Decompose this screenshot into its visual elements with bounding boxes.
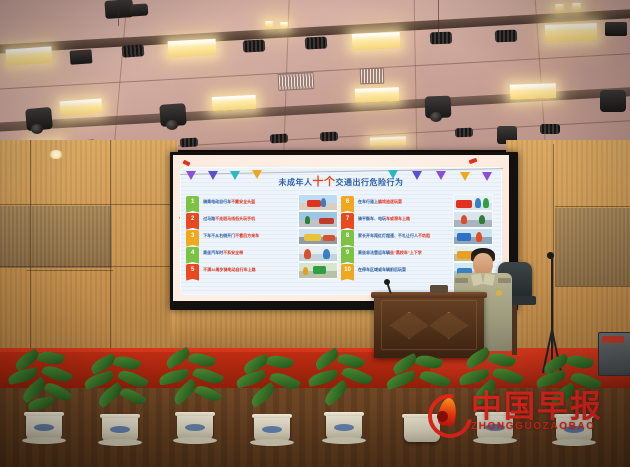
pot-saucer (473, 437, 517, 444)
ceiling-panel-light (370, 136, 406, 146)
slide-title-highlight: 十个 (313, 176, 336, 188)
item-text-red: 嬉戏追逐玩耍 (378, 199, 402, 204)
ceiling-air-vent (360, 68, 385, 85)
podium-document (430, 285, 448, 293)
porcelain-pot (26, 412, 62, 440)
moving-head-lens (31, 124, 43, 134)
item-badge: 2 (186, 213, 199, 226)
pot-saucer (22, 437, 66, 444)
item-illustration (298, 194, 338, 211)
item-badge: 1 (186, 196, 199, 209)
slide-item: 2 过马路不走斑马线低头玩手机 (186, 211, 338, 228)
item-text-red: 不看后方来车 (235, 233, 259, 238)
podium-microphone-head (384, 279, 390, 285)
item-text: 过马路不走斑马线低头玩手机 (203, 216, 298, 222)
item-text: 在停车区域或车辆前后玩耍 (358, 267, 453, 273)
slide-item: 3 下车不从右侧开门不看后方来车 (186, 228, 338, 245)
slide-column-left: 1 骑乘电动自行车不戴安全头盔 2 过马路不走斑马线低头玩手机 3 下车不从右侧… (186, 194, 338, 279)
ceiling-spotlight (455, 128, 473, 138)
item-text-plain: 骑平衡车、电玩 (358, 216, 386, 221)
item-illustration (298, 228, 338, 245)
ceiling-panel-light (168, 39, 217, 57)
pot-saucer (98, 439, 142, 446)
slide-item: 1 骑乘电动自行车不戴安全头盔 (186, 194, 338, 211)
item-text: 不满16周岁骑电动自行车上路 (203, 267, 298, 273)
item-badge: 5 (186, 264, 199, 277)
slide-item: 5 不满16周岁骑电动自行车上路 (186, 262, 338, 279)
item-badge: 10 (341, 264, 354, 277)
item-text: 下车不从右侧开门不看后方来车 (203, 233, 298, 239)
item-badge: 3 (186, 230, 199, 243)
item-text: 乘坐汽车时不系安全带 (203, 250, 298, 256)
item-text-plain: 过马路 (203, 216, 215, 221)
item-text-plain: 下车不从右侧开门 (203, 233, 235, 238)
slide-title: 未成年人十个交通出行危险行为 (180, 173, 503, 189)
uniform-epaulet (455, 278, 468, 283)
tripod-mic-head (547, 252, 554, 259)
ceiling-spotlight (495, 30, 517, 43)
ceiling-spotlight (180, 138, 198, 148)
wooden-podium (374, 292, 484, 358)
pot-saucer (250, 439, 294, 446)
moving-head-lens (166, 120, 178, 130)
ceiling-seam (113, 0, 127, 150)
ceiling-downlight (280, 22, 288, 29)
item-badge: 7 (341, 213, 354, 226)
item-illustration (298, 262, 338, 279)
item-text-red: 不走斑马线低头玩手机 (215, 216, 255, 221)
ceiling-spotlight (320, 132, 338, 142)
item-text-plain: 骑乘电动自行车 (203, 199, 231, 204)
slide-title-suffix: 交通出行危险行为 (336, 178, 404, 187)
ceiling-panel-light (510, 83, 556, 100)
ceiling-downlight (555, 4, 564, 12)
ceiling-panel-light (545, 23, 598, 42)
uniform-badge (496, 290, 502, 296)
moving-head-light (130, 3, 149, 16)
porcelain-pot (177, 412, 213, 440)
item-text-plain: 在车行道上 (358, 199, 378, 204)
auditorium-ceiling (0, 0, 630, 150)
ceiling-spotlight (70, 49, 93, 65)
item-text: 骑平衡车、电玩车或滑车上路 (358, 216, 453, 222)
item-text: 在车行道上嬉戏追逐玩耍 (358, 199, 453, 205)
porcelain-pot (102, 414, 138, 442)
item-badge: 6 (341, 196, 354, 209)
pot-saucer (552, 439, 596, 446)
ceiling-panel-light (212, 95, 257, 111)
potted-plant (308, 352, 394, 448)
porcelain-pot (326, 412, 362, 440)
confetti (182, 160, 190, 167)
ceiling-panel-light (5, 46, 52, 65)
ceiling-spotlight (540, 124, 560, 134)
item-illustration (453, 194, 493, 211)
item-text-plain: 家长开车闯红灯超速、不礼让行人 (358, 233, 418, 238)
potted-plant (158, 352, 244, 448)
item-text-red: 车或滑车上路 (386, 216, 410, 221)
watermark-chinese-text: 中国早报 (471, 392, 603, 421)
wall-seam (555, 206, 630, 207)
item-text: 乘坐非法营运车辆坐"黑校车"上下学 (358, 250, 453, 256)
item-badge: 8 (341, 230, 354, 243)
item-illustration (298, 211, 338, 228)
wall-seam (110, 140, 111, 370)
zhongguozaobao-watermark: 中国早报 ZHONGGUOZAOBAO (428, 392, 603, 432)
item-text-red: 坐"黑校车"上下学 (390, 250, 422, 255)
ceiling-spotlight (605, 22, 627, 36)
ceiling-spotlight (122, 44, 145, 58)
moving-head-lens (430, 112, 442, 122)
porcelain-pot (254, 414, 290, 442)
pot-saucer (322, 437, 366, 444)
flame-logo-icon (428, 392, 468, 432)
confetti (469, 158, 478, 164)
item-text-red: 不系安全带 (223, 250, 243, 255)
slide-item: 6 在车行道上嬉戏追逐玩耍 (341, 194, 493, 211)
wall-seam (555, 286, 630, 287)
slide-item: 4 乘坐汽车时不系安全带 (186, 245, 338, 262)
uniform-collar (471, 273, 483, 286)
item-illustration (298, 245, 338, 262)
ceiling-panel-light (352, 32, 401, 50)
wall-seam (30, 140, 31, 370)
ceiling-spotlight (430, 32, 452, 45)
wall-downlight (48, 150, 64, 159)
item-illustration (453, 228, 493, 245)
ceiling-spotlight (305, 36, 328, 49)
wall-seam (27, 270, 113, 271)
ceiling-cable (438, 0, 439, 32)
item-text-red: 不劝阻 (418, 233, 430, 238)
left-acoustic-panel (0, 206, 112, 268)
ceiling-air-vent (278, 72, 315, 91)
speaker-head (473, 253, 493, 275)
wall-seam (0, 204, 178, 205)
item-text: 家长开车闯红灯超速、不礼让行人不劝阻 (358, 233, 453, 239)
ceiling-spotlight (270, 134, 288, 144)
wall-seam (0, 266, 178, 267)
item-text-plain: 乘坐汽车时 (203, 250, 223, 255)
podium-top-surface (371, 292, 487, 298)
uniform-epaulet (498, 278, 511, 283)
item-illustration (453, 211, 493, 228)
ceiling-downlight (572, 3, 581, 11)
slide-title-prefix: 未成年人 (279, 178, 313, 187)
item-text-plain: 在停车区域或车辆前后玩耍 (358, 267, 406, 272)
road-case-label (602, 336, 624, 343)
photo-scene: 未成年人十个交通出行危险行为 1 骑乘电动自行车不戴安全头盔 2 过马路不走斑马… (0, 0, 630, 467)
slide-item: 7 骑平衡车、电玩车或滑车上路 (341, 211, 493, 228)
ceiling-panel-light (355, 87, 399, 103)
watermark-pinyin-text: ZHONGGUOZAOBAO (471, 421, 603, 432)
ceiling-cable (118, 0, 119, 26)
ceiling-panel-light (60, 99, 103, 116)
moving-head-light (600, 90, 626, 112)
item-text-red: 不满16周岁骑电动自行车上路 (203, 267, 255, 272)
item-text-red: 不戴安全头盔 (231, 199, 255, 204)
slide-item: 8 家长开车闯红灯超速、不礼让行人不劝阻 (341, 228, 493, 245)
item-text: 骑乘电动自行车不戴安全头盔 (203, 199, 298, 205)
tripod-mast (551, 256, 553, 332)
pot-saucer (173, 437, 217, 444)
ceiling-downlight (265, 21, 273, 28)
item-badge: 4 (186, 247, 199, 260)
item-badge: 9 (341, 247, 354, 260)
ceiling-spotlight (243, 39, 266, 52)
potted-plant (82, 356, 168, 452)
item-text-plain: 乘坐非法营运车辆 (358, 250, 390, 255)
right-acoustic-panel (555, 208, 630, 286)
